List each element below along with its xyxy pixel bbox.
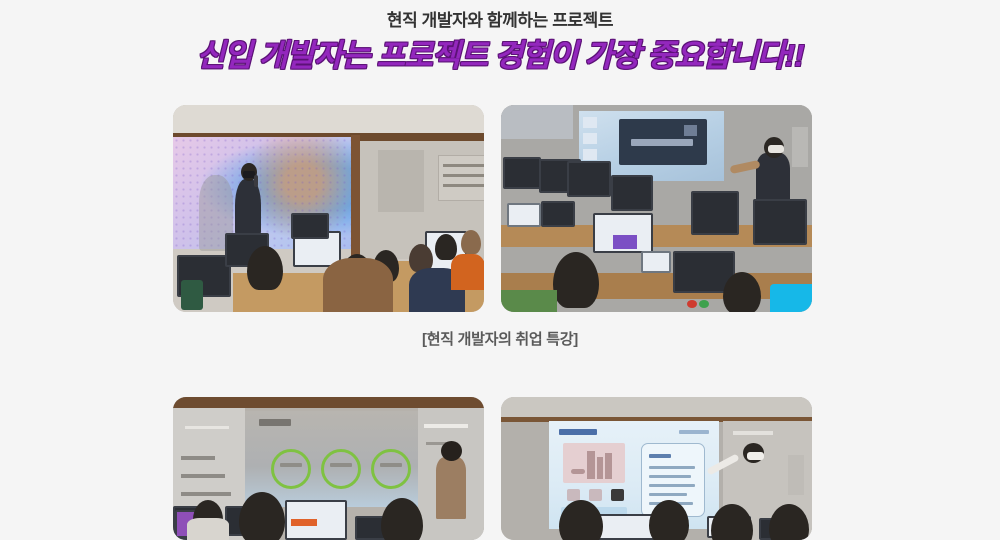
- ceiling-light: [185, 426, 229, 429]
- slide-thumbnail: [583, 133, 597, 144]
- student-head: [559, 500, 603, 540]
- monitor: [691, 191, 739, 235]
- page-subtitle: 현직 개발자와 함께하는 프로젝트: [0, 10, 1000, 32]
- monitor: [503, 157, 541, 189]
- slide-meta-text: [679, 430, 709, 434]
- student-orange-shirt: [451, 254, 484, 290]
- presenter-head: [441, 441, 462, 461]
- student-head: [247, 246, 283, 290]
- face-mask: [747, 452, 764, 460]
- screen-content: [291, 519, 317, 526]
- student-head: [769, 504, 809, 540]
- gallery-row-2: [173, 397, 813, 540]
- student-head: [649, 500, 689, 540]
- slide-title-text: [631, 139, 693, 146]
- blue-chair: [770, 284, 812, 312]
- desk-item-green: [699, 300, 709, 308]
- page-title: 신입 개발자는 프로젝트 경험이 가장 중요합니다!!: [0, 35, 1000, 77]
- gallery-row-1: [173, 105, 813, 312]
- photo-scene: [501, 397, 812, 540]
- monitor: [541, 201, 575, 227]
- tumbler: [181, 280, 203, 310]
- monitor: [611, 175, 653, 211]
- diagram-circle: [321, 449, 361, 489]
- ceiling-light: [733, 431, 773, 435]
- whiteboard-left: [501, 105, 573, 139]
- slide-thumbnail: [583, 149, 597, 160]
- diagram-circle: [271, 449, 311, 489]
- slide-logo: [684, 125, 697, 136]
- photo-scene: [173, 397, 484, 540]
- slide-image: [563, 443, 625, 483]
- photo-green-circle-slide[interactable]: [173, 397, 484, 540]
- heading-block: 현직 개발자와 함께하는 프로젝트 신입 개발자는 프로젝트 경험이 가장 중요…: [0, 0, 1000, 77]
- desk-item-red: [687, 300, 697, 308]
- photo-scene: [501, 105, 812, 312]
- student-head: [381, 498, 423, 540]
- photo-classroom-pastel-projection[interactable]: [173, 105, 484, 312]
- ceiling-light: [424, 424, 468, 428]
- promo-page: 현직 개발자와 함께하는 프로젝트 신입 개발자는 프로젝트 경험이 가장 중요…: [0, 0, 1000, 540]
- whiteboard-scribble: [181, 456, 215, 460]
- photo-scene: [173, 105, 484, 312]
- student-head: [553, 252, 599, 308]
- ceiling: [501, 397, 812, 419]
- presentation-slide: [619, 119, 707, 165]
- photo-computer-lab-instructor[interactable]: [501, 105, 812, 312]
- student-head: [435, 234, 457, 260]
- photo-ui-slide-pointing[interactable]: [501, 397, 812, 540]
- speaker-body: [235, 179, 261, 237]
- whiteboard-scribble: [181, 474, 225, 478]
- student-head: [239, 492, 285, 540]
- slide-title-text: [559, 429, 597, 435]
- student-head: [723, 272, 761, 312]
- slide-thumbnail: [583, 117, 597, 128]
- floor-mat: [501, 290, 557, 312]
- wood-column: [351, 135, 360, 265]
- face-mask: [768, 145, 784, 153]
- notice-board: [438, 155, 484, 201]
- laptop: [641, 251, 671, 273]
- wood-beam: [173, 397, 484, 408]
- student-jacket: [323, 258, 393, 312]
- monitor: [753, 199, 807, 245]
- student-head: [711, 504, 753, 540]
- microphone: [254, 175, 258, 187]
- monitor: [291, 213, 329, 239]
- gallery-caption: [현직 개발자의 취업 특강]: [0, 328, 1000, 349]
- window-panel: [378, 150, 424, 212]
- wall-panel: [788, 455, 804, 495]
- student-shoulders: [187, 518, 229, 540]
- diagram-circle: [371, 449, 411, 489]
- monitor: [567, 161, 611, 197]
- audience-row: [173, 492, 484, 540]
- student-head: [461, 230, 481, 254]
- screen-content: [613, 235, 637, 249]
- slide-title-text: [259, 419, 291, 426]
- wall-note: [792, 127, 808, 167]
- audience-row: [501, 492, 812, 540]
- monitor-active: [597, 514, 657, 540]
- laptop: [507, 203, 541, 227]
